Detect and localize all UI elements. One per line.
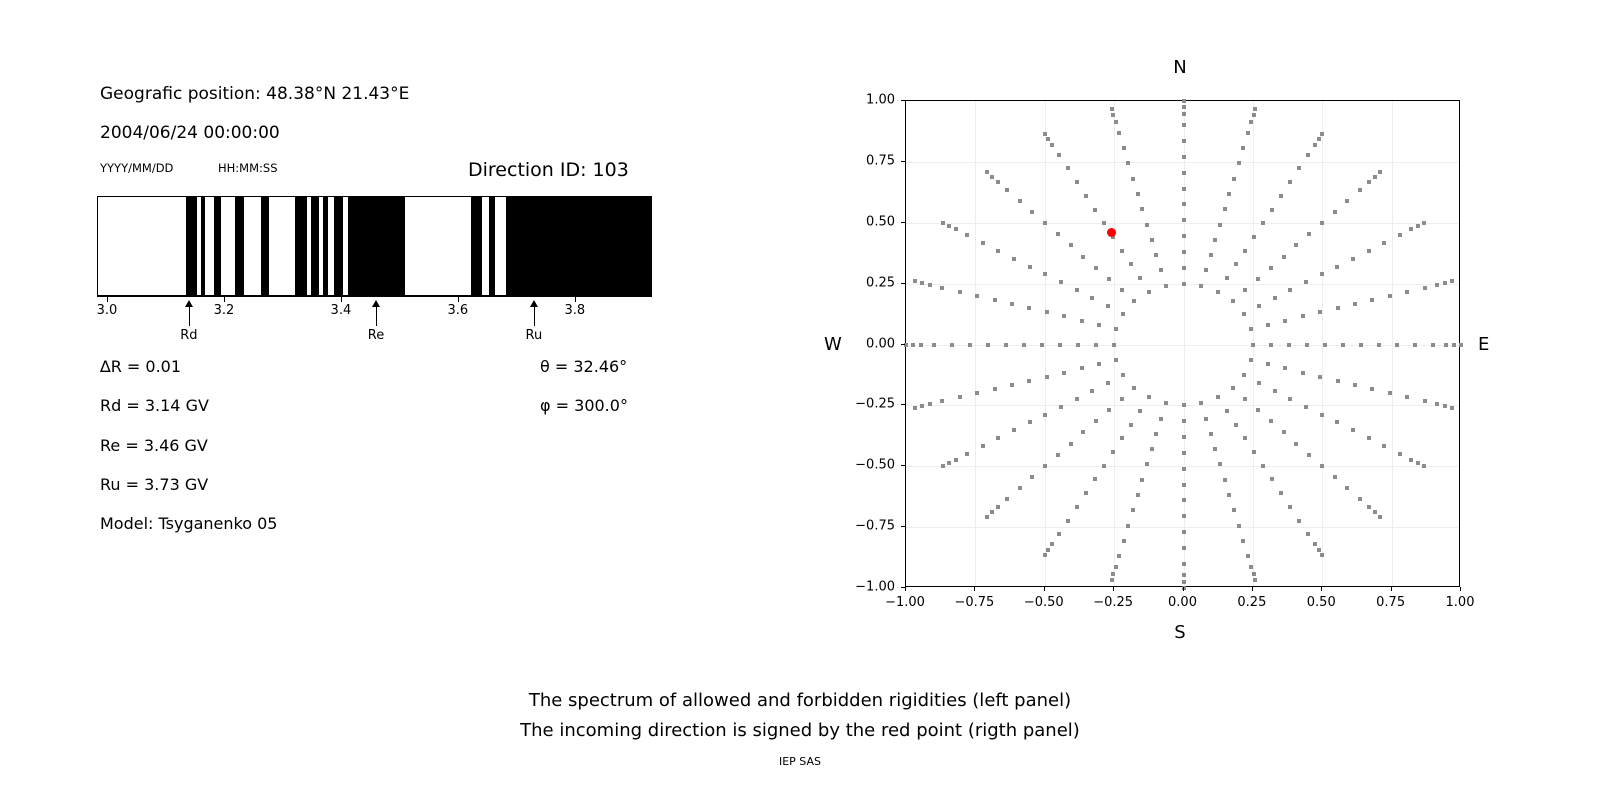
x-axis-tick-label: 0.25 xyxy=(1237,595,1266,610)
y-axis-tick-label: 0.25 xyxy=(835,275,895,290)
y-axis-tick-label: −1.00 xyxy=(835,580,895,595)
y-axis-tick xyxy=(901,100,905,101)
forbidden-band xyxy=(201,197,205,295)
x-axis-tick xyxy=(974,587,975,591)
forbidden-band xyxy=(471,197,483,295)
x-axis-tick xyxy=(1113,587,1114,591)
y-axis-tick xyxy=(901,526,905,527)
y-axis-tick xyxy=(901,465,905,466)
marker-label: Rd xyxy=(180,328,197,343)
y-axis-tick-label: 0.50 xyxy=(835,214,895,229)
forbidden-band xyxy=(295,197,307,295)
left-panel: Geografic position: 48.38°N 21.43°E 2004… xyxy=(0,0,800,800)
figure-caption: The spectrum of allowed and forbidden ri… xyxy=(0,686,1600,746)
forbidden-band xyxy=(489,197,495,295)
footer-credit: IEP SAS xyxy=(0,755,1600,768)
forbidden-band xyxy=(311,197,318,295)
marker-label: Re xyxy=(368,328,384,343)
forbidden-band xyxy=(235,197,244,295)
geographic-position: Geografic position: 48.38°N 21.43°E xyxy=(100,84,409,104)
y-axis-tick xyxy=(901,404,905,405)
y-axis-tick-label: 1.00 xyxy=(835,93,895,108)
y-axis-tick-label: −0.50 xyxy=(835,458,895,473)
y-axis-tick-label: 0.75 xyxy=(835,153,895,168)
rigidity-spectrum-chart xyxy=(97,196,652,296)
y-axis-tick-label: −0.25 xyxy=(835,397,895,412)
marker-arrow-icon xyxy=(372,300,380,307)
param-ru: Ru = 3.73 GV xyxy=(100,475,208,494)
marker-arrow-icon xyxy=(185,300,193,307)
y-axis-tick-label: −0.75 xyxy=(835,519,895,534)
x-axis-tick xyxy=(1044,587,1045,591)
caption-line-2: The incoming direction is signed by the … xyxy=(0,716,1600,746)
x-axis-tick xyxy=(1391,587,1392,591)
right-panel: N S W E −1.00−0.75−0.50−0.250.000.250.50… xyxy=(800,0,1600,800)
x-axis-tick xyxy=(1460,587,1461,591)
time-format-hint: HH:MM:SS xyxy=(218,161,278,175)
forbidden-band xyxy=(348,197,405,295)
spectrum-bar xyxy=(97,196,652,296)
x-axis-tick-label: 0.50 xyxy=(1307,595,1336,610)
param-delta-r: ∆R = 0.01 xyxy=(100,357,181,376)
x-axis-tick-label: −0.25 xyxy=(1093,595,1133,610)
param-model: Model: Tsyganenko 05 xyxy=(100,514,277,533)
x-axis-tick-label: −0.75 xyxy=(954,595,994,610)
forbidden-band xyxy=(186,197,197,295)
x-axis-tick-label: −1.00 xyxy=(885,595,925,610)
forbidden-band xyxy=(323,197,328,295)
marker-label: Ru xyxy=(526,328,543,343)
forbidden-band xyxy=(506,197,652,295)
marker-shaft xyxy=(534,304,535,326)
marker-shaft xyxy=(376,304,377,326)
x-axis-tick xyxy=(905,587,906,591)
datetime-value: 2004/06/24 00:00:00 xyxy=(100,123,280,143)
param-theta: θ = 32.46° xyxy=(540,357,627,376)
x-axis-tick-label: 0.00 xyxy=(1168,595,1197,610)
x-axis-tick xyxy=(1321,587,1322,591)
compass-label-north: N xyxy=(1173,57,1186,78)
forbidden-band xyxy=(334,197,343,295)
y-axis-tick xyxy=(901,161,905,162)
x-axis-tick xyxy=(1252,587,1253,591)
compass-label-south: S xyxy=(1174,622,1185,643)
date-format-hint: YYYY/MM/DD xyxy=(100,161,173,175)
x-axis-tick-label: −0.50 xyxy=(1024,595,1064,610)
direction-id: Direction ID: 103 xyxy=(468,159,629,181)
y-axis-tick xyxy=(901,283,905,284)
marker-shaft xyxy=(189,304,190,326)
spectrum-axis-markers: RdReRu xyxy=(97,296,652,356)
param-phi: φ = 300.0° xyxy=(540,396,628,415)
marker-arrow-icon xyxy=(530,300,538,307)
forbidden-band xyxy=(214,197,222,295)
x-axis-tick xyxy=(1183,587,1184,591)
y-axis-tick-label: 0.00 xyxy=(835,336,895,351)
x-axis-tick-label: 1.00 xyxy=(1446,595,1475,610)
scatter-axes: −1.00−0.75−0.50−0.250.000.250.500.751.00… xyxy=(905,100,1460,587)
param-re: Re = 3.46 GV xyxy=(100,436,208,455)
y-axis-tick xyxy=(901,222,905,223)
caption-line-1: The spectrum of allowed and forbidden ri… xyxy=(0,686,1600,716)
param-rd: Rd = 3.14 GV xyxy=(100,396,209,415)
compass-label-east: E xyxy=(1478,334,1489,355)
y-axis-tick xyxy=(901,344,905,345)
forbidden-band xyxy=(261,197,269,295)
x-axis-tick-label: 0.75 xyxy=(1376,595,1405,610)
